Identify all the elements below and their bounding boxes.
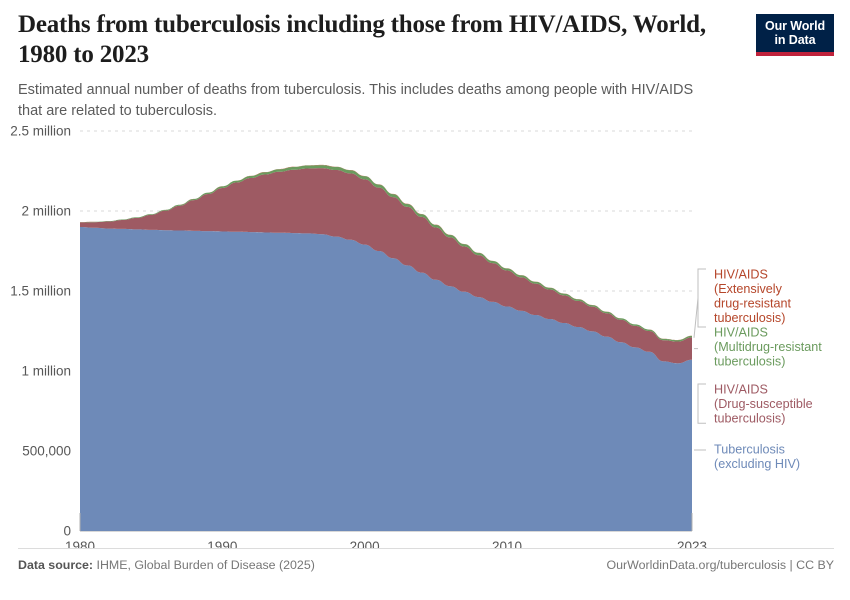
chart-subtitle: Estimated annual number of deaths from t… [18, 80, 708, 121]
legend-hiv-mdr-line1[interactable]: HIV/AIDS [714, 325, 768, 339]
legend-hiv-ds-line1[interactable]: HIV/AIDS [714, 382, 768, 396]
legend-hiv-xdr-line4[interactable]: tuberculosis) [714, 311, 785, 325]
data-source-value: IHME, Global Burden of Disease (2025) [97, 558, 315, 572]
owid-logo-line1: Our World [756, 19, 834, 33]
data-source-label: Data source: [18, 558, 93, 572]
chart-footer: Data source: IHME, Global Burden of Dise… [18, 548, 834, 588]
legend-tuberculosis-line1[interactable]: Tuberculosis [714, 442, 785, 456]
legend[interactable]: HIV/AIDS(Extensivelydrug-resistanttuberc… [714, 267, 822, 471]
legend-hiv-mdr-line2[interactable]: (Multidrug-resistant [714, 340, 822, 354]
attribution-link[interactable]: OurWorldinData.org/tuberculosis | CC BY [607, 558, 834, 572]
y-axis-tick-label: 1.5 million [10, 284, 71, 299]
legend-tuberculosis-line2[interactable]: (excluding HIV) [714, 457, 800, 471]
legend-hiv-mdr-line3[interactable]: tuberculosis) [714, 355, 785, 369]
data-source: Data source: IHME, Global Burden of Dise… [18, 558, 315, 572]
chart-area: 0500,0001 million1.5 million2 million2.5… [0, 118, 850, 548]
x-axis-tick-label: 2023 [677, 539, 707, 548]
legend-hiv-xdr-line1[interactable]: HIV/AIDS [714, 267, 768, 281]
leader-drug-susceptible [694, 349, 706, 424]
area-band[interactable] [80, 227, 692, 531]
page-title: Deaths from tuberculosis including those… [18, 10, 718, 70]
legend-hiv-ds-line2[interactable]: (Drug-susceptible [714, 397, 813, 411]
legend-hiv-xdr-line2[interactable]: (Extensively [714, 282, 783, 296]
x-axis-tick-label: 1990 [207, 539, 237, 548]
y-axis-tick-label: 1 million [21, 364, 71, 379]
y-axis-tick-label: 2.5 million [10, 124, 71, 139]
y-axis-tick-label: 0 [63, 524, 71, 539]
area-series-layer[interactable] [80, 165, 692, 531]
y-axis-tick-label: 500,000 [22, 444, 71, 459]
owid-logo-line2: in Data [756, 33, 834, 47]
chart-page: Deaths from tuberculosis including those… [0, 0, 850, 600]
legend-hiv-xdr-line3[interactable]: drug-resistant [714, 297, 791, 311]
legend-leader-lines [694, 269, 706, 450]
x-axis-tick-label: 2000 [350, 539, 380, 548]
legend-hiv-ds-line3[interactable]: tuberculosis) [714, 412, 785, 426]
x-axis-tick-label: 1980 [65, 539, 95, 548]
x-axis-tick-label: 2010 [492, 539, 522, 548]
owid-logo[interactable]: Our World in Data [756, 14, 834, 56]
chart-header: Deaths from tuberculosis including those… [18, 10, 718, 121]
stacked-area-chart[interactable]: 0500,0001 million1.5 million2 million2.5… [0, 118, 850, 548]
leader-xdr-mdr [694, 269, 706, 338]
y-axis-tick-label: 2 million [21, 204, 71, 219]
